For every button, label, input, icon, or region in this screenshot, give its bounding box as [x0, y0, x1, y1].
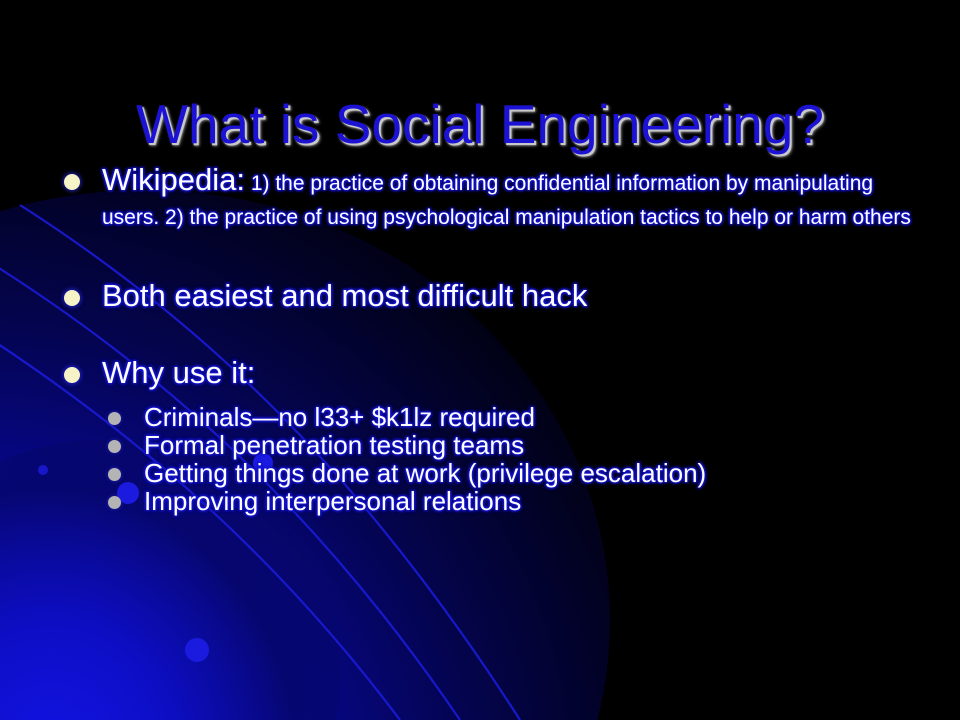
sub-bullet-label: Criminals—no l33+ $k1lz required [144, 402, 535, 432]
bullet-item-both-hack: Both easiest and most difficult hack [56, 279, 916, 312]
slide-body: Wikipedia: 1) the practice of obtaining … [56, 163, 916, 515]
bullet-dot-cream-icon [64, 174, 80, 190]
bullet-dot-gray-icon [108, 468, 121, 481]
sub-bullet-pentest: Formal penetration testing teams [56, 431, 916, 459]
background-dot-4 [38, 465, 48, 475]
bullet-text-wikipedia: Wikipedia: 1) the practice of obtaining … [102, 172, 911, 229]
spacer-3 [56, 389, 916, 403]
sub-bullet-label: Improving interpersonal relations [144, 486, 521, 516]
bullet-text-why-use-it: Why use it: [102, 356, 916, 389]
sub-bullet-label: Formal penetration testing teams [144, 430, 524, 460]
bullet-dot-gray-icon [108, 412, 121, 425]
sub-bullet-criminals: Criminals—no l33+ $k1lz required [56, 403, 916, 431]
background-dot-2 [185, 638, 209, 662]
bullet-dot-gray-icon [108, 440, 121, 453]
bullet-item-why-use-it: Why use it: [56, 356, 916, 389]
slide-title: What is Social Engineering? [0, 93, 960, 155]
spacer-1 [56, 231, 916, 279]
bullet-dot-gray-icon [108, 496, 121, 509]
bullet-lead-wikipedia: Wikipedia: [102, 162, 245, 197]
spacer-2 [56, 312, 916, 356]
bullet-dot-cream-icon [64, 290, 80, 306]
sub-bullet-list: Criminals—no l33+ $k1lz required Formal … [56, 403, 916, 515]
sub-bullet-work: Getting things done at work (privilege e… [56, 459, 916, 487]
bullet-text-both-hack: Both easiest and most difficult hack [102, 279, 916, 312]
sub-bullet-label: Getting things done at work (privilege e… [144, 458, 706, 488]
sub-bullet-relations: Improving interpersonal relations [56, 487, 916, 515]
presentation-slide: What is Social Engineering? Wikipedia: 1… [0, 0, 960, 720]
bullet-item-wikipedia: Wikipedia: 1) the practice of obtaining … [56, 163, 916, 231]
bullet-dot-cream-icon [64, 367, 80, 383]
